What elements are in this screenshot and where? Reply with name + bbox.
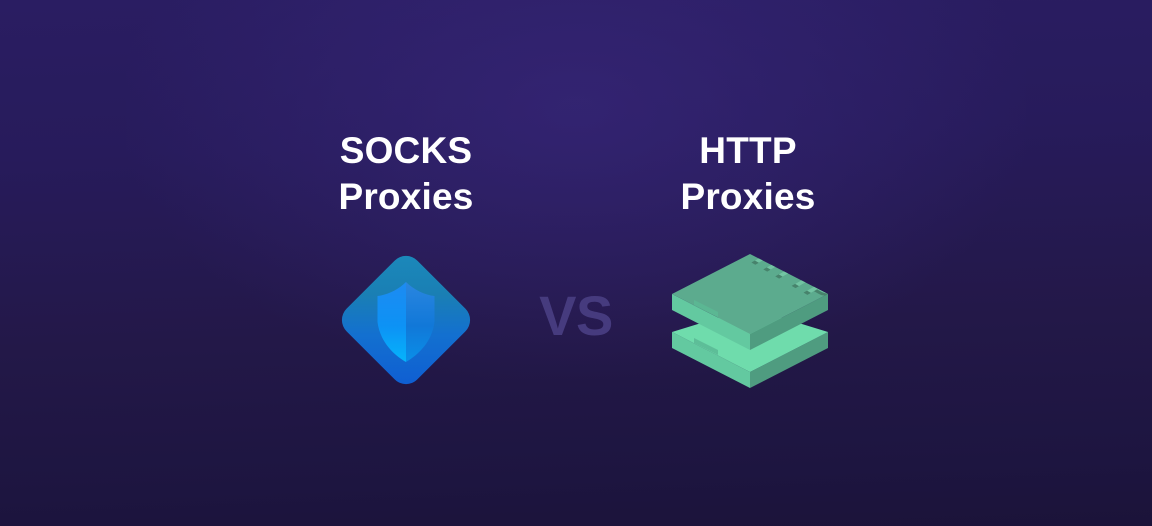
comparison-graphic: SOCKS Proxies bbox=[0, 0, 1152, 526]
socks-proxies-title: SOCKS Proxies bbox=[246, 128, 566, 220]
http-proxies-title: HTTP Proxies bbox=[588, 128, 908, 220]
versus-label: VS bbox=[516, 286, 636, 346]
shield-diamond-icon bbox=[334, 248, 478, 392]
http-server-stack-icon: HTTP HTTP bbox=[666, 246, 834, 394]
